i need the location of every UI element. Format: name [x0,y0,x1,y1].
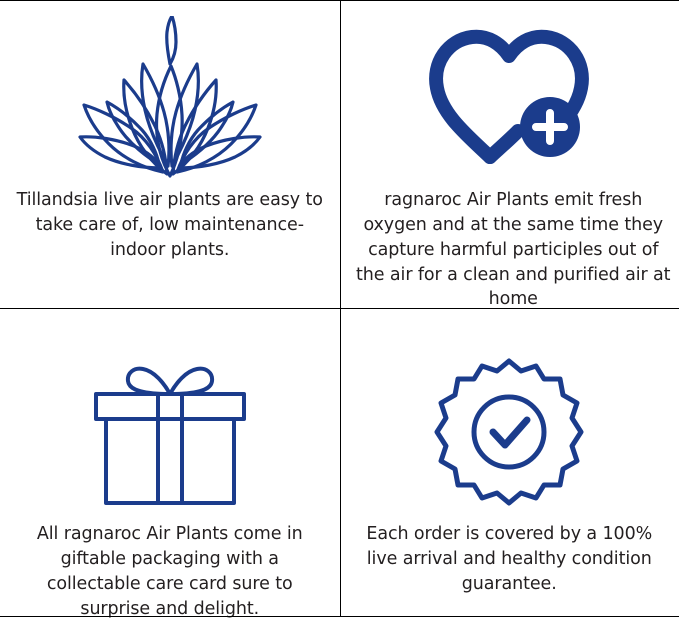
feature-caption-2: ragnaroc Air Plants emit fresh oxygen an… [356,188,672,312]
feature-caption-1: Tillandsia live air plants are easy to t… [16,188,324,263]
heart-plus-icon [356,8,672,188]
feature-cell-1: Tillandsia live air plants are easy to t… [0,0,340,312]
quality-badge-check-icon [356,342,664,522]
gift-box-icon [16,342,324,522]
feature-cell-4: Each order is covered by a 100% live arr… [340,312,679,621]
feature-caption-4: Each order is covered by a 100% live arr… [356,522,664,597]
feature-grid: Tillandsia live air plants are easy to t… [0,0,679,617]
feature-caption-3: All ragnaroc Air Plants come in giftable… [16,522,324,621]
feature-cell-2: ragnaroc Air Plants emit fresh oxygen an… [340,0,679,312]
feature-cell-3: All ragnaroc Air Plants come in giftable… [0,312,340,621]
air-plant-icon [16,8,324,188]
top-border [0,0,679,1]
horizontal-divider [0,308,679,309]
